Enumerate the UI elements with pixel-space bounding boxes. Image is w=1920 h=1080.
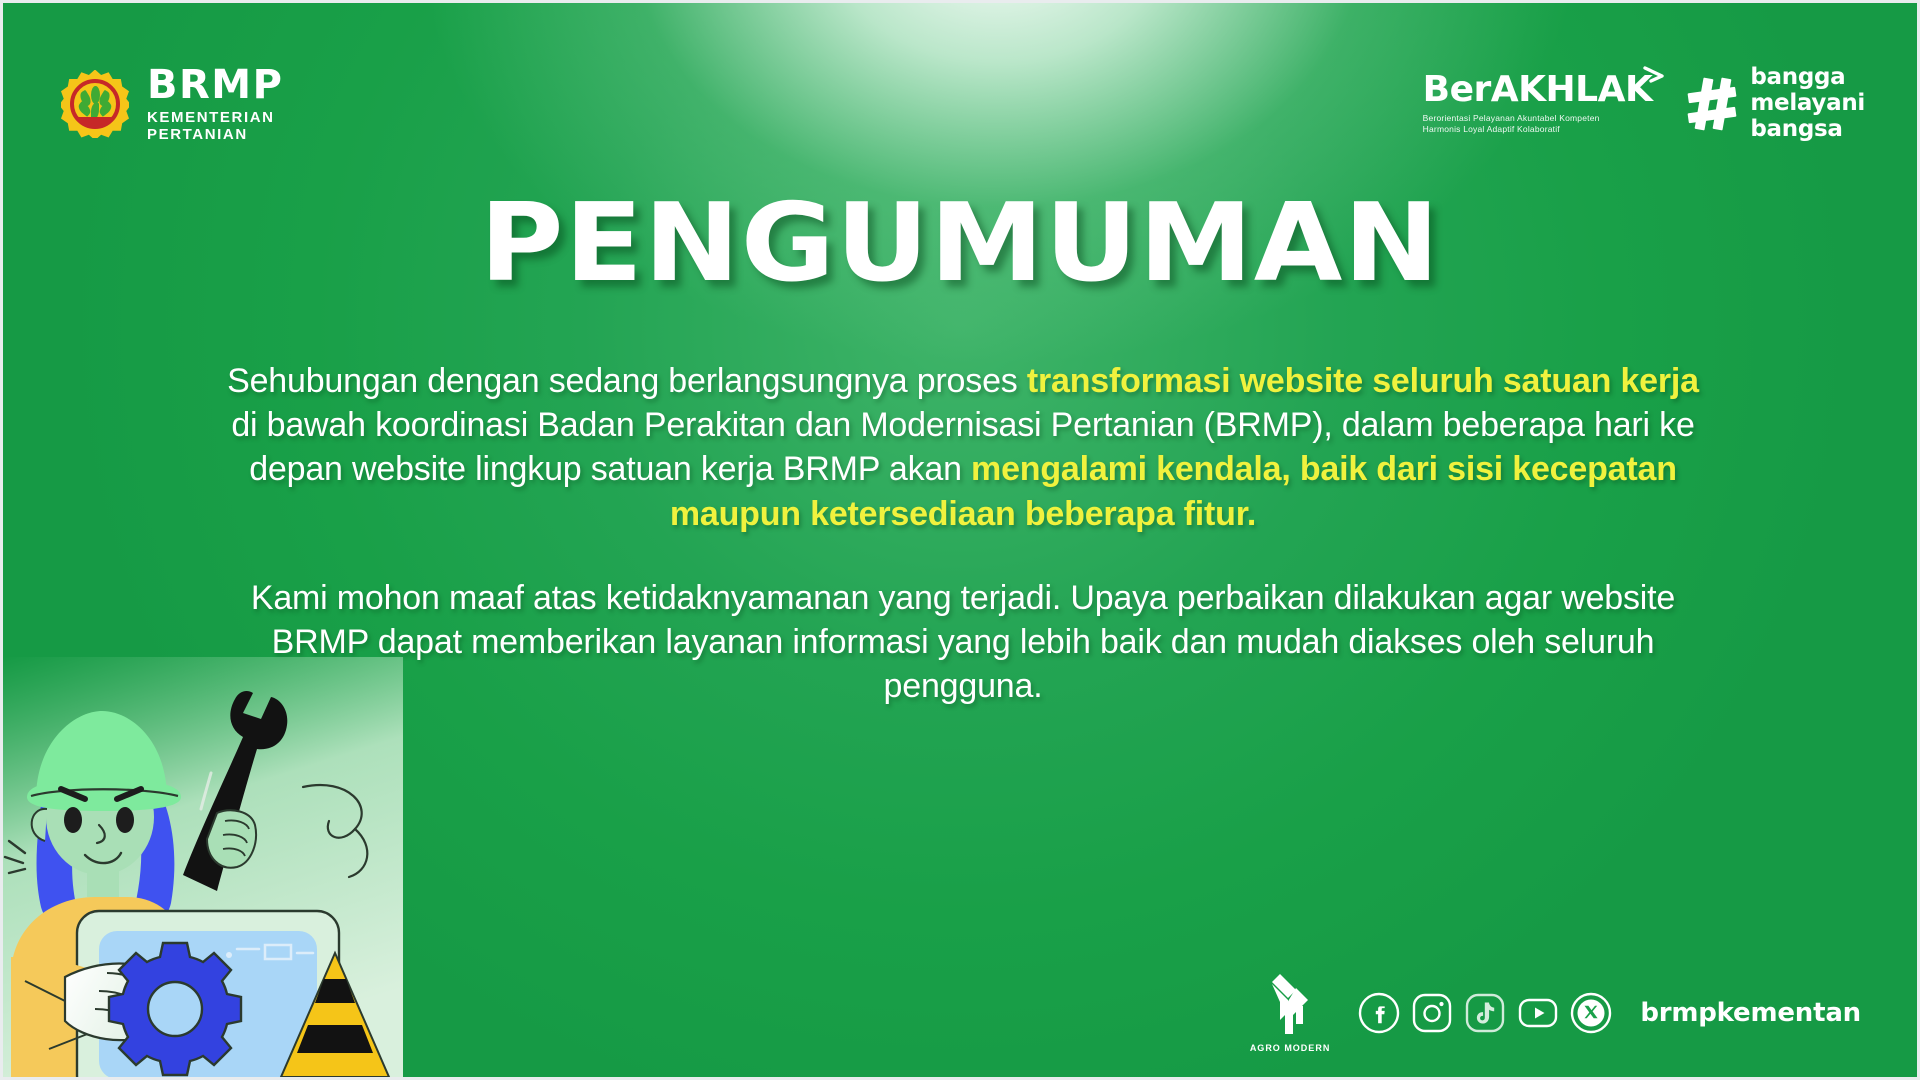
- plain-text: Sehubungan dengan sedang berlangsungnya …: [227, 362, 1027, 400]
- berakhlak-subtitle-line1: Berorientasi Pelayanan Akuntabel Kompete…: [1423, 113, 1653, 124]
- berakhlak-title: BerAKHLAK: [1423, 72, 1653, 108]
- agro-modern-mark-icon: [1262, 972, 1318, 1038]
- brand-name: BRMP: [147, 65, 283, 105]
- paragraph-2: Kami mohon maaf atas ketidaknyamanan yan…: [213, 576, 1713, 709]
- hard-hat-brim: [27, 779, 181, 811]
- maintenance-worker-illustration: [3, 657, 403, 1077]
- tiktok-icon[interactable]: [1464, 992, 1506, 1034]
- gear-icon: [109, 943, 241, 1075]
- government-branding-lockup: BerAKHLAK Berorientasi Pelayanan Akuntab…: [1423, 65, 1865, 142]
- agro-modern-label: AGRO MODERN: [1250, 1043, 1331, 1053]
- facebook-icon[interactable]: [1358, 992, 1400, 1034]
- announcement-body: Sehubungan dengan sedang berlangsungnya …: [213, 359, 1713, 708]
- page-title: PENGUMUMAN: [0, 181, 1920, 306]
- kementerian-pertanian-seal-icon: [61, 70, 129, 138]
- hashtag-icon: [1686, 76, 1738, 132]
- swoosh-icon: [1642, 66, 1668, 92]
- brmp-brand-lockup: BRMP KEMENTERIAN PERTANIAN: [61, 65, 283, 142]
- x-twitter-icon[interactable]: [1570, 992, 1612, 1034]
- bangga-line-1: bangga: [1750, 65, 1865, 91]
- youtube-icon[interactable]: [1517, 992, 1559, 1034]
- eye-left: [64, 807, 82, 833]
- social-handle: brmpkementan: [1640, 998, 1861, 1028]
- berakhlak-logo: BerAKHLAK Berorientasi Pelayanan Akuntab…: [1423, 72, 1653, 136]
- social-icons-group: [1358, 992, 1612, 1034]
- footer-social-bar: AGRO MODERN: [1250, 972, 1861, 1053]
- brand-ministry-line2: PERTANIAN: [147, 127, 283, 142]
- hand-on-wrench: [207, 810, 256, 867]
- bangga-line-3: bangsa: [1750, 117, 1865, 143]
- paragraph-1: Sehubungan dengan sedang berlangsungnya …: [213, 359, 1713, 536]
- agro-modern-logo: AGRO MODERN: [1250, 972, 1331, 1053]
- instagram-icon[interactable]: [1411, 992, 1453, 1034]
- berakhlak-subtitle-line2: Harmonis Loyal Adaptif Kolaboratif: [1423, 124, 1653, 135]
- plain-text: Kami mohon maaf atas ketidaknyamanan yan…: [251, 579, 1675, 705]
- bangga-melayani-bangsa-logo: bangga melayani bangsa: [1686, 65, 1865, 142]
- eye-right: [116, 807, 134, 833]
- bangga-line-2: melayani: [1750, 91, 1865, 117]
- announcement-poster: BRMP KEMENTERIAN PERTANIAN BerAKHLAK Ber…: [0, 0, 1920, 1080]
- brand-ministry-line1: KEMENTERIAN: [147, 110, 283, 125]
- highlighted-text: transformasi website seluruh satuan kerj…: [1027, 362, 1699, 400]
